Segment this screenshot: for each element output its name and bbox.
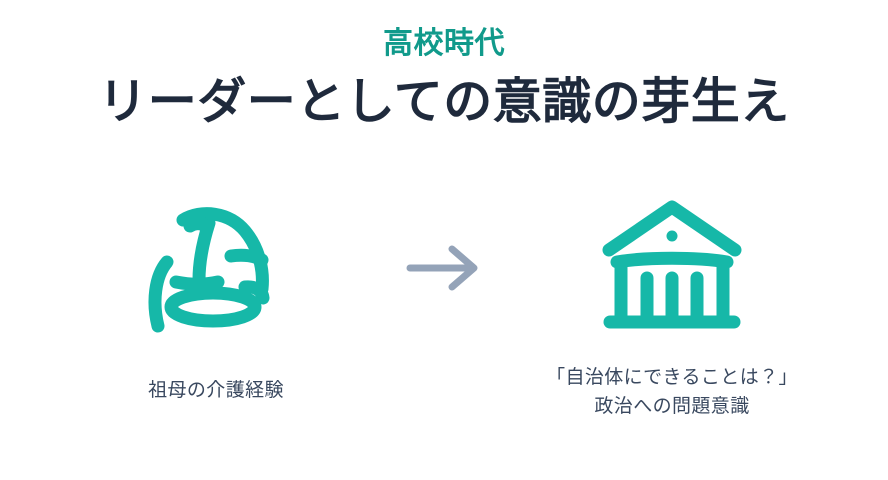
- slide-header: 高校時代 リーダーとしての意識の芽生え: [0, 0, 888, 132]
- slide-eyebrow: 高校時代: [0, 0, 888, 61]
- flow-node-awareness: 「自治体にできることは？」 政治への問題意識: [522, 185, 822, 422]
- flow-arrow-wrap: [384, 185, 504, 350]
- hand-drawn-elderly-care-sketch-icon: [141, 190, 291, 345]
- awareness-caption: 「自治体にできることは？」 政治への問題意識: [546, 363, 798, 422]
- government-building-icon: [601, 198, 743, 338]
- experience-caption: 祖母の介護経験: [148, 376, 284, 405]
- slide-canvas: 高校時代 リーダーとしての意識の芽生え: [0, 0, 888, 480]
- awareness-caption-line-1: 「自治体にできることは？」: [546, 363, 798, 392]
- experience-icon-wrap: [141, 185, 291, 350]
- awareness-icon-wrap: [601, 185, 743, 350]
- slide-title: リーダーとしての意識の芽生え: [0, 61, 888, 132]
- flow-node-experience: 祖母の介護経験: [66, 185, 366, 405]
- awareness-caption-line-2: 政治への問題意識: [546, 392, 798, 421]
- flow-diagram: 祖母の介護経験: [0, 185, 888, 455]
- experience-caption-line-1: 祖母の介護経験: [148, 376, 284, 405]
- arrow-right-icon: [404, 245, 484, 291]
